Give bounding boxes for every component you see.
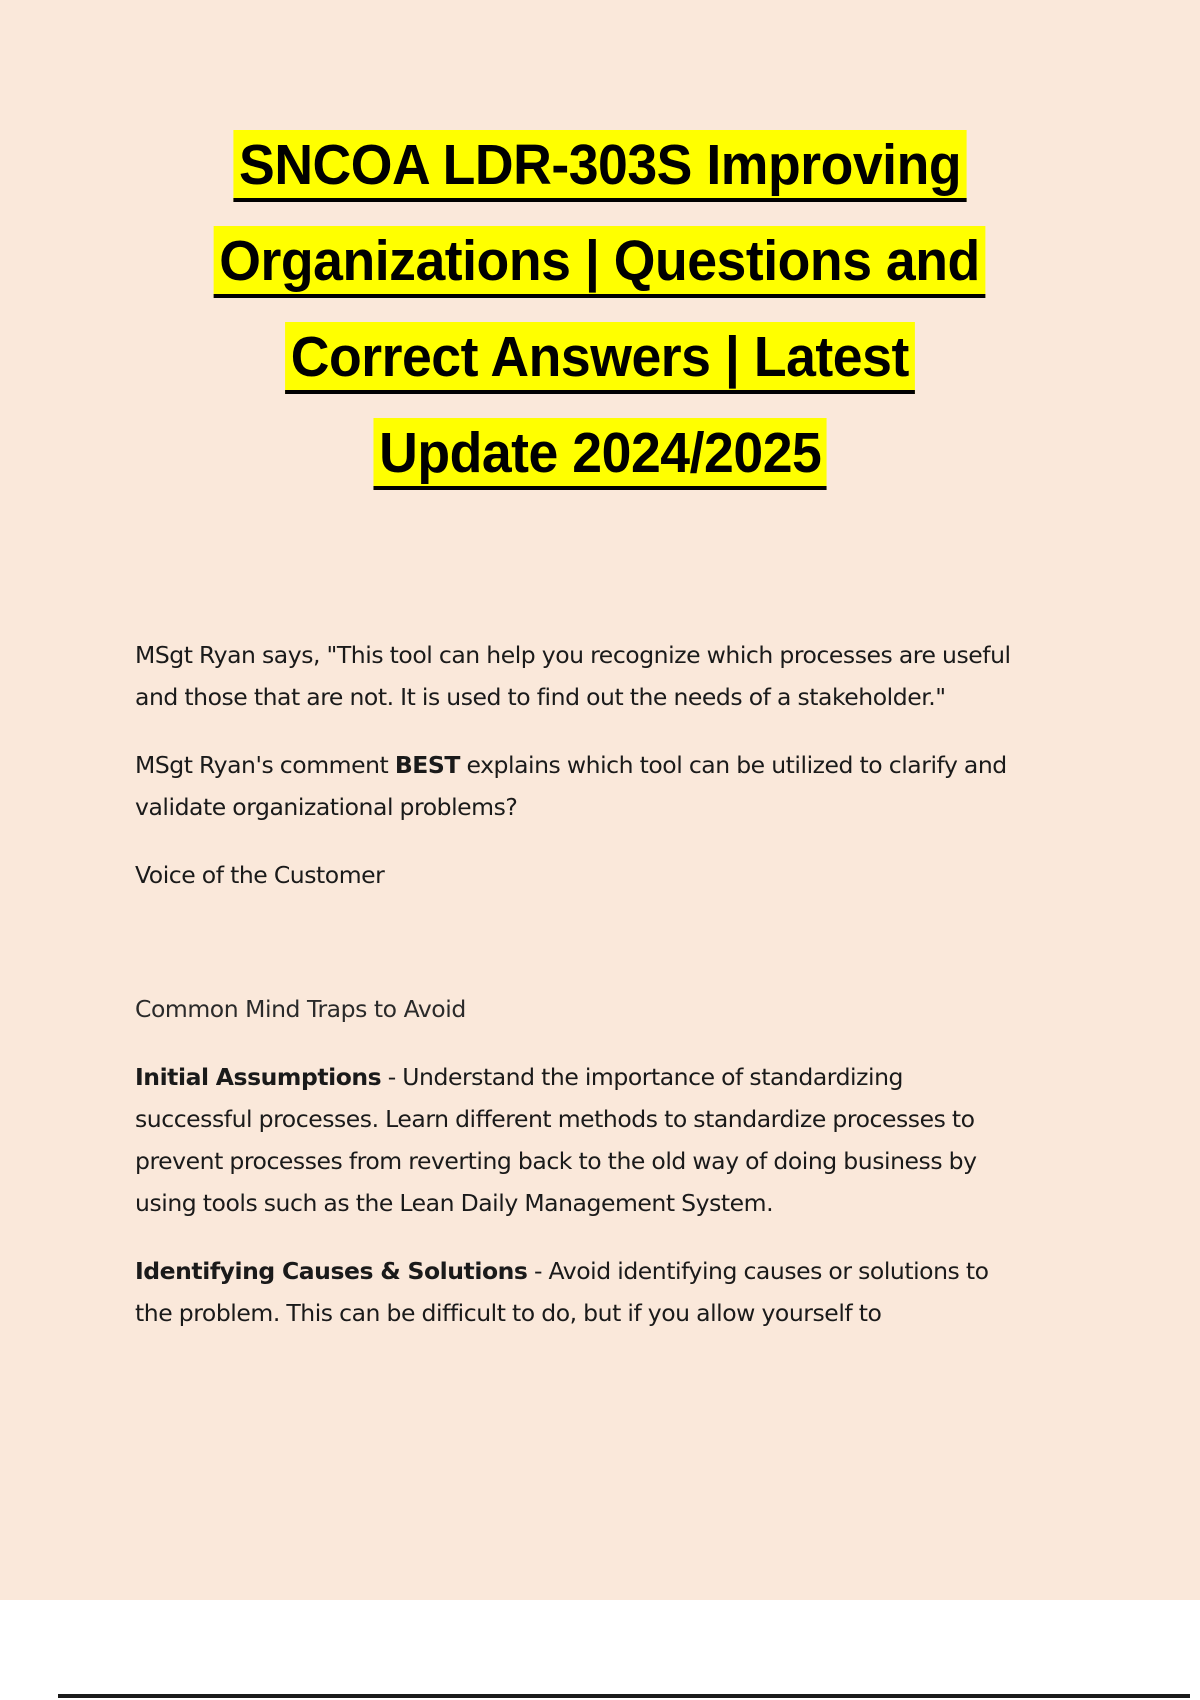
title-line-1: SNCOA LDR-303S Improving (0, 130, 1200, 202)
mind-trap-initial-assumptions: Initial Assumptions - Understand the imp… (135, 1056, 1015, 1224)
question-paragraph: MSgt Ryan's comment BEST explains which … (135, 744, 1015, 828)
title-line-4: Update 2024/2025 (0, 418, 1200, 490)
title-line-2-text: Organizations | Questions and (214, 226, 986, 298)
question-prefix: MSgt Ryan's comment (135, 751, 395, 779)
title-line-3-text: Correct Answers | Latest (285, 322, 914, 394)
document-page: SNCOA LDR-303S Improving Organizations |… (0, 0, 1200, 1600)
quote-paragraph: MSgt Ryan says, "This tool can help you … (135, 634, 1015, 718)
section-heading: Common Mind Traps to Avoid (135, 988, 1015, 1030)
document-body: MSgt Ryan says, "This tool can help you … (135, 634, 1015, 1360)
answer-paragraph: Voice of the Customer (135, 854, 1015, 896)
mind-trap-initial-assumptions-label: Initial Assumptions (135, 1063, 381, 1091)
title-line-3: Correct Answers | Latest (0, 322, 1200, 394)
section-spacer (135, 922, 1015, 988)
title-line-2: Organizations | Questions and (0, 226, 1200, 298)
title-line-1-text: SNCOA LDR-303S Improving (233, 130, 966, 202)
footer-divider (58, 1694, 1190, 1698)
document-title: SNCOA LDR-303S Improving Organizations |… (0, 130, 1200, 514)
question-emphasis: BEST (395, 751, 460, 779)
mind-trap-identifying-causes: Identifying Causes & Solutions - Avoid i… (135, 1250, 1015, 1334)
title-line-4-text: Update 2024/2025 (373, 418, 827, 490)
mind-trap-identifying-causes-label: Identifying Causes & Solutions (135, 1257, 527, 1285)
